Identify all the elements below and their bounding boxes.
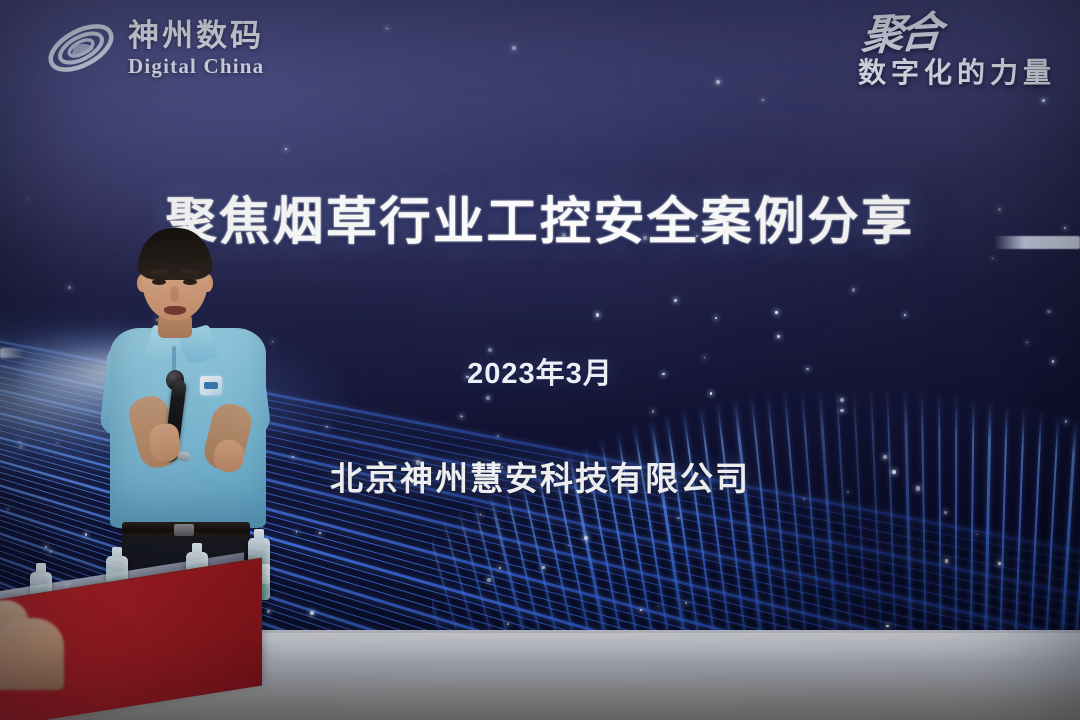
speaker-mouth [164,306,186,315]
event-calligraphy: 聚合 [856,12,940,58]
light-particle [716,80,720,84]
light-particle [596,313,600,317]
light-particle [512,46,516,50]
light-particle [1047,310,1051,314]
light-particle [507,623,509,625]
light-particle [944,511,947,514]
light-particle [998,562,1000,564]
light-particle [326,426,328,428]
optical-fiber [835,388,854,632]
light-particle [49,550,52,553]
optical-fiber [1013,408,1025,632]
optical-fiber [969,397,974,632]
light-particle [674,299,677,302]
light-particle [1065,420,1068,423]
optical-fiber [1028,411,1042,632]
digital-china-wordmark: 神州数码 Digital China [128,20,264,77]
light-particle [68,286,70,288]
company-badge-icon [200,376,222,395]
light-particle [710,392,713,395]
optical-fiber [784,391,810,632]
light-particle [1042,99,1045,102]
digital-china-logo: 神州数码 Digital China [44,16,264,80]
conference-stage-photo: 神州数码 Digital China 聚合 数字化的力量 聚焦烟草行业工控安全案… [0,0,1080,720]
light-particle [18,441,21,444]
light-particle [499,567,500,568]
light-particle [7,508,9,510]
light-particle [945,559,949,563]
brand-name-en: Digital China [128,56,264,77]
digital-china-swoosh-icon [44,16,118,80]
brand-name-cn: 神州数码 [128,20,264,51]
optical-fiber [666,416,706,632]
light-particle [19,445,22,448]
light-particle [57,442,58,443]
event-slogan: 数字化的力量 [858,58,1056,89]
optical-fiber [904,389,914,632]
light-particle [904,314,906,316]
speaker-belt-buckle [174,524,194,536]
light-particle [777,335,780,338]
audience-member [0,618,64,690]
speaker-eye-left [152,279,166,285]
optical-fiber [432,527,471,632]
optical-fiber [921,391,927,632]
light-particle [852,288,856,292]
optical-fiber [887,388,898,632]
light-particle [497,435,499,437]
optical-fiber [852,387,868,632]
event-logo: 聚合 数字化的力量 [858,14,1056,89]
optical-fiber [1043,416,1059,632]
speaker-eye-right [183,279,197,285]
light-particle [775,311,778,314]
speaker-nose [170,286,179,302]
light-particle [542,566,545,569]
optical-fiber [954,395,956,632]
optical-fiber [998,404,1007,632]
light-particle [285,148,287,150]
optical-fiber [984,401,992,632]
optical-fiber [938,393,941,632]
optical-fiber [870,387,884,632]
